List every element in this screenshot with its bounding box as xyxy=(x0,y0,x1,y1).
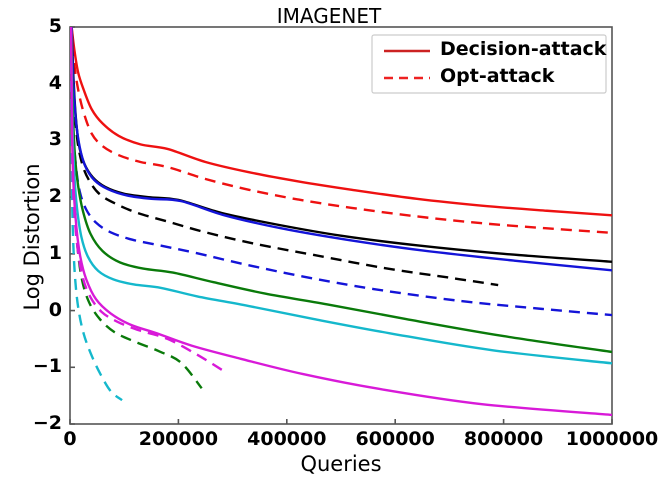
y-axis-label: Log Distortion xyxy=(20,157,44,317)
y-tick-label: 1 xyxy=(0,242,62,264)
y-tick-label: −1 xyxy=(0,355,62,377)
x-tick-label: 1000000 xyxy=(532,428,658,450)
y-tick-label: −2 xyxy=(0,412,62,434)
y-tick-label: 3 xyxy=(0,128,62,150)
figure: IMAGENET Log Distortion Queries 02000004… xyxy=(0,0,658,485)
y-tick-label: 4 xyxy=(0,72,62,94)
y-tick-label: 2 xyxy=(0,185,62,207)
curve-opt-attack-green xyxy=(71,27,202,388)
y-tick-label: 0 xyxy=(0,299,62,321)
legend-label-1[interactable]: Opt-attack xyxy=(440,65,554,87)
plot-canvas xyxy=(0,0,658,485)
legend-label-0[interactable]: Decision-attack xyxy=(440,38,606,60)
y-tick-label: 5 xyxy=(0,15,62,37)
x-axis-label: Queries xyxy=(70,452,612,476)
